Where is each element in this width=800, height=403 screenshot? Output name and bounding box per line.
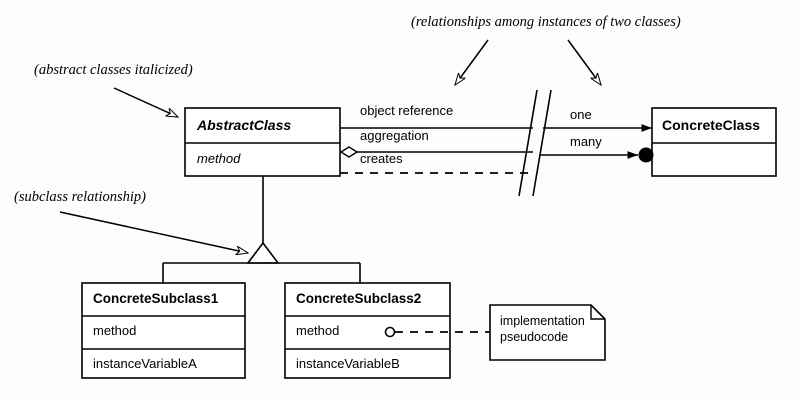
relationships-note-arrow-right xyxy=(568,40,601,85)
pseudocode-circle-icon xyxy=(386,328,395,337)
line-break-symbol xyxy=(519,90,551,196)
class-member-abstract-class-method: method xyxy=(197,152,240,167)
abstract-note-arrow xyxy=(114,88,178,117)
uml-diagram-canvas: (abstract classes italicized) (relations… xyxy=(0,0,800,403)
relation-label-many: many xyxy=(570,135,602,150)
relation-label-aggregation: aggregation xyxy=(360,129,429,144)
class-member-concrete-subclass-2-method: method xyxy=(296,324,339,339)
annotation-abstract-classes: (abstract classes italicized) xyxy=(34,62,193,79)
class-name-concrete-class: ConcreteClass xyxy=(662,117,760,133)
relation-label-creates: creates xyxy=(360,152,403,167)
inheritance-connector xyxy=(163,176,360,283)
class-name-concrete-subclass-1: ConcreteSubclass1 xyxy=(93,291,218,307)
annotation-subclass-relationship: (subclass relationship) xyxy=(14,189,146,206)
class-name-concrete-subclass-2: ConcreteSubclass2 xyxy=(296,291,421,307)
many-multiplicity-ball-icon xyxy=(639,148,654,163)
relation-label-object-reference: object reference xyxy=(360,104,453,119)
relationships-note-arrow-left xyxy=(455,40,488,85)
class-member-concrete-subclass-1-variable: instanceVariableA xyxy=(93,357,197,372)
subclass-note-arrow xyxy=(60,212,248,253)
note-text-implementation-pseudocode: implementation pseudocode xyxy=(500,314,585,345)
class-name-abstract-class: AbstractClass xyxy=(197,117,291,133)
aggregation-diamond-icon xyxy=(341,147,357,157)
relation-label-one: one xyxy=(570,108,592,123)
annotation-relationships: (relationships among instances of two cl… xyxy=(411,14,681,31)
class-member-concrete-subclass-2-variable: instanceVariableB xyxy=(296,357,400,372)
inheritance-triangle-icon xyxy=(248,243,278,263)
class-member-concrete-subclass-1-method: method xyxy=(93,324,136,339)
